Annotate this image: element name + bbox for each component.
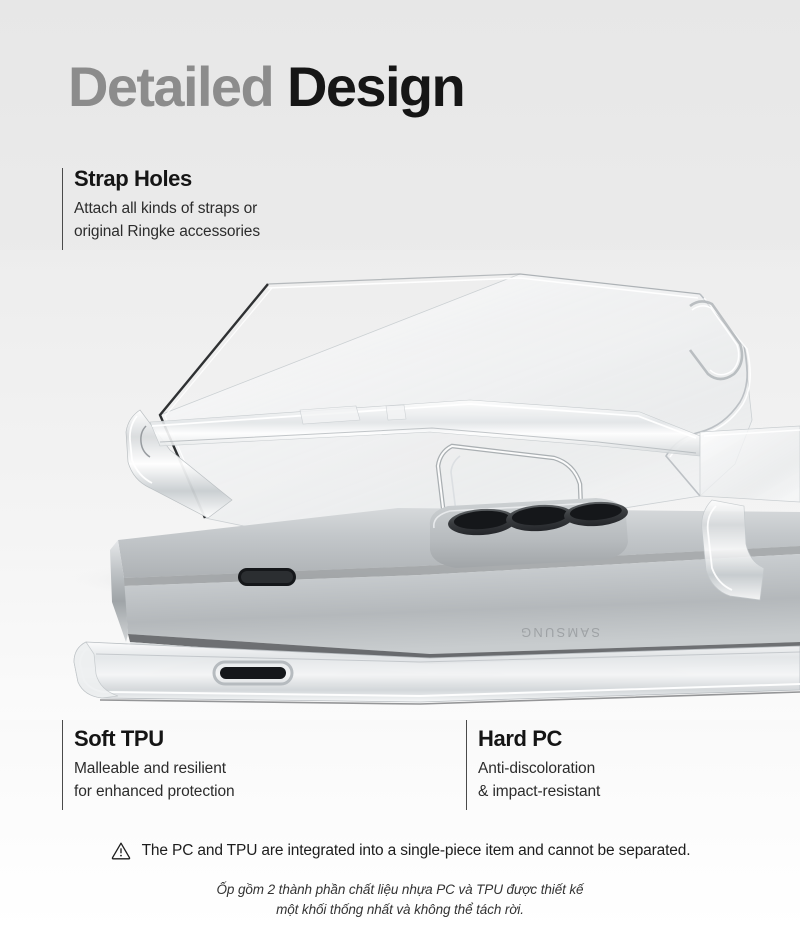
page-title-part-dark: Design [287, 55, 464, 118]
page-title: Detailed Design [68, 58, 464, 117]
product-photo: SAMSUNG [0, 250, 800, 720]
callout-soft-tpu: Soft TPU Malleable and resilient for enh… [74, 726, 235, 803]
callout-strap-holes-title: Strap Holes [74, 166, 260, 191]
callout-hard-pc-title: Hard PC [478, 726, 600, 751]
product-detail-page: Detailed Design [0, 0, 800, 930]
callout-soft-tpu-title: Soft TPU [74, 726, 235, 751]
callout-hard-pc-description: Anti-discoloration & impact-resistant [478, 758, 600, 803]
disclaimer-row: The PC and TPU are integrated into a sin… [0, 840, 800, 862]
callout-strap-holes-desc-line1: Attach all kinds of straps or [74, 198, 260, 220]
callout-hard-pc-desc-line2: & impact-resistant [478, 781, 600, 803]
warning-triangle-icon [110, 840, 132, 862]
callout-strap-holes-description: Attach all kinds of straps or original R… [74, 198, 260, 243]
callout-soft-tpu-desc-line1: Malleable and resilient [74, 758, 235, 780]
usb-c-port-upper [238, 568, 296, 586]
callout-strap-holes: Strap Holes Attach all kinds of straps o… [74, 166, 260, 243]
camera-bump [430, 498, 629, 568]
callout-soft-tpu-description: Malleable and resilient for enhanced pro… [74, 758, 235, 803]
brand-text: SAMSUNG [519, 625, 600, 640]
callout-hard-pc: Hard PC Anti-discoloration & impact-resi… [478, 726, 600, 803]
callout-strap-holes-desc-line2: original Ringke accessories [74, 221, 260, 243]
page-title-part-grey: Detailed [68, 55, 273, 118]
callout-soft-tpu-desc-line2: for enhanced protection [74, 781, 235, 803]
disclaimer-text-vietnamese: Ốp gồm 2 thành phần chất liệu nhựa PC và… [0, 880, 800, 921]
callout-hard-pc-desc-line1: Anti-discoloration [478, 758, 600, 780]
disclaimer-text-english: The PC and TPU are integrated into a sin… [142, 842, 691, 860]
disclaimer-vietnamese-line1: Ốp gồm 2 thành phần chất liệu nhựa PC và… [0, 880, 800, 900]
disclaimer-vietnamese-line2: một khối thống nhất và không thể tách rờ… [0, 900, 800, 920]
